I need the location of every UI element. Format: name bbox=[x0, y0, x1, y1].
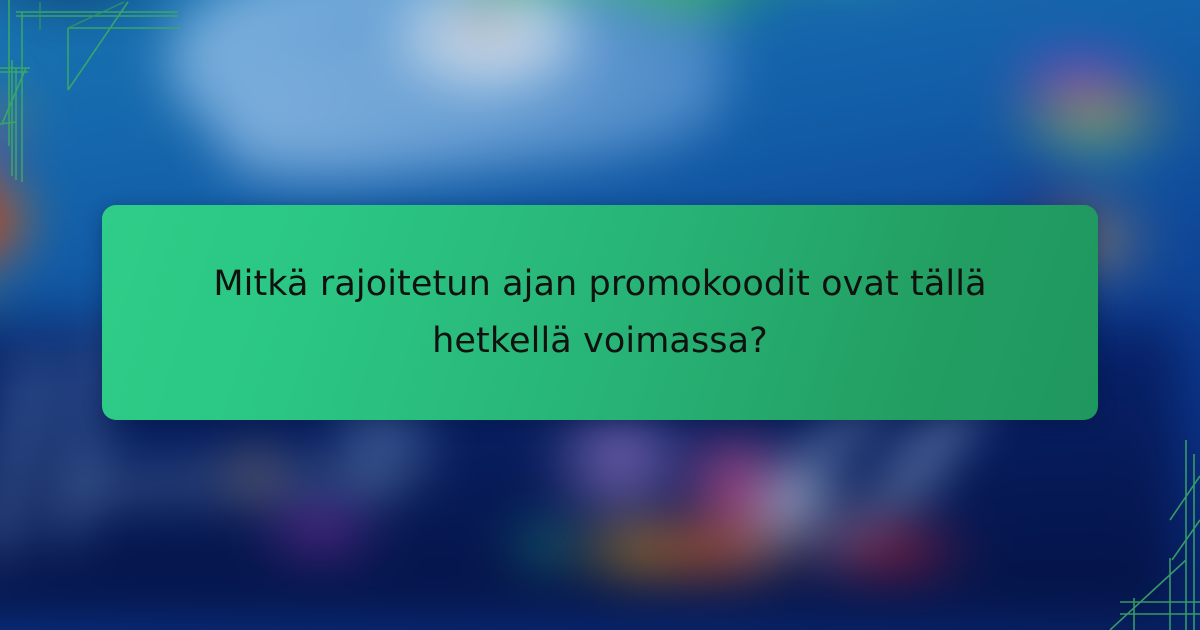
question-text: Mitkä rajoitetun ajan promokoodit ovat t… bbox=[212, 256, 988, 369]
background-blob-orange-bottom bbox=[600, 515, 820, 585]
background-blob-magenta-bottom bbox=[250, 500, 390, 560]
question-card: Mitkä rajoitetun ajan promokoodit ovat t… bbox=[102, 205, 1098, 420]
background-blob-tan-bottom bbox=[220, 440, 290, 510]
background-blob-red-bottom bbox=[800, 520, 980, 580]
screenshot-stage: Mitkä rajoitetun ajan promokoodit ovat t… bbox=[0, 0, 1200, 630]
